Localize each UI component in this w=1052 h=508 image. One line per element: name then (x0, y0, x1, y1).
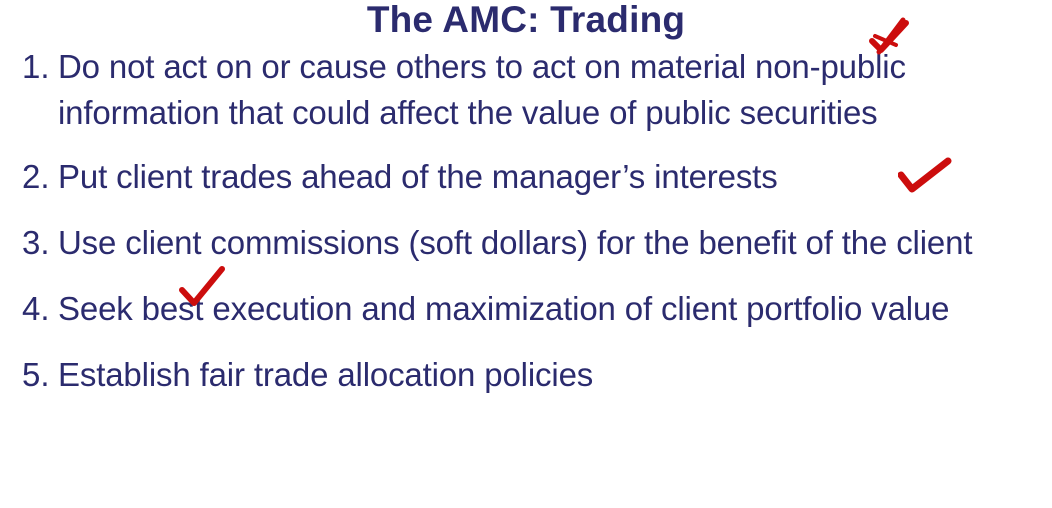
list-item: 3. Use client commissions (soft dollars)… (0, 220, 1052, 266)
list-item-text: Use client commissions (soft dollars) fo… (58, 220, 1012, 266)
list-item-number: 3. (0, 220, 58, 266)
numbered-list: 1. Do not act on or cause others to act … (0, 44, 1052, 398)
list-item-number: 5. (0, 352, 58, 398)
list-item: 1. Do not act on or cause others to act … (0, 44, 1052, 136)
list-item-number: 4. (0, 286, 58, 332)
list-item-text: Establish fair trade allocation policies (58, 352, 1032, 398)
list-item-text: Put client trades ahead of the manager’s… (58, 154, 1032, 200)
list-item-text: Seek best execution and maximization of … (58, 286, 984, 332)
list-item: 4. Seek best execution and maximization … (0, 286, 1052, 332)
list-item-text: Do not act on or cause others to act on … (58, 44, 1032, 136)
slide-canvas: The AMC: Trading 1. Do not act on or cau… (0, 0, 1052, 508)
list-item: 5. Establish fair trade allocation polic… (0, 352, 1052, 398)
list-item-number: 2. (0, 154, 58, 200)
page-title: The AMC: Trading (0, 0, 1052, 40)
list-item-number: 1. (0, 44, 58, 90)
list-item: 2. Put client trades ahead of the manage… (0, 154, 1052, 200)
